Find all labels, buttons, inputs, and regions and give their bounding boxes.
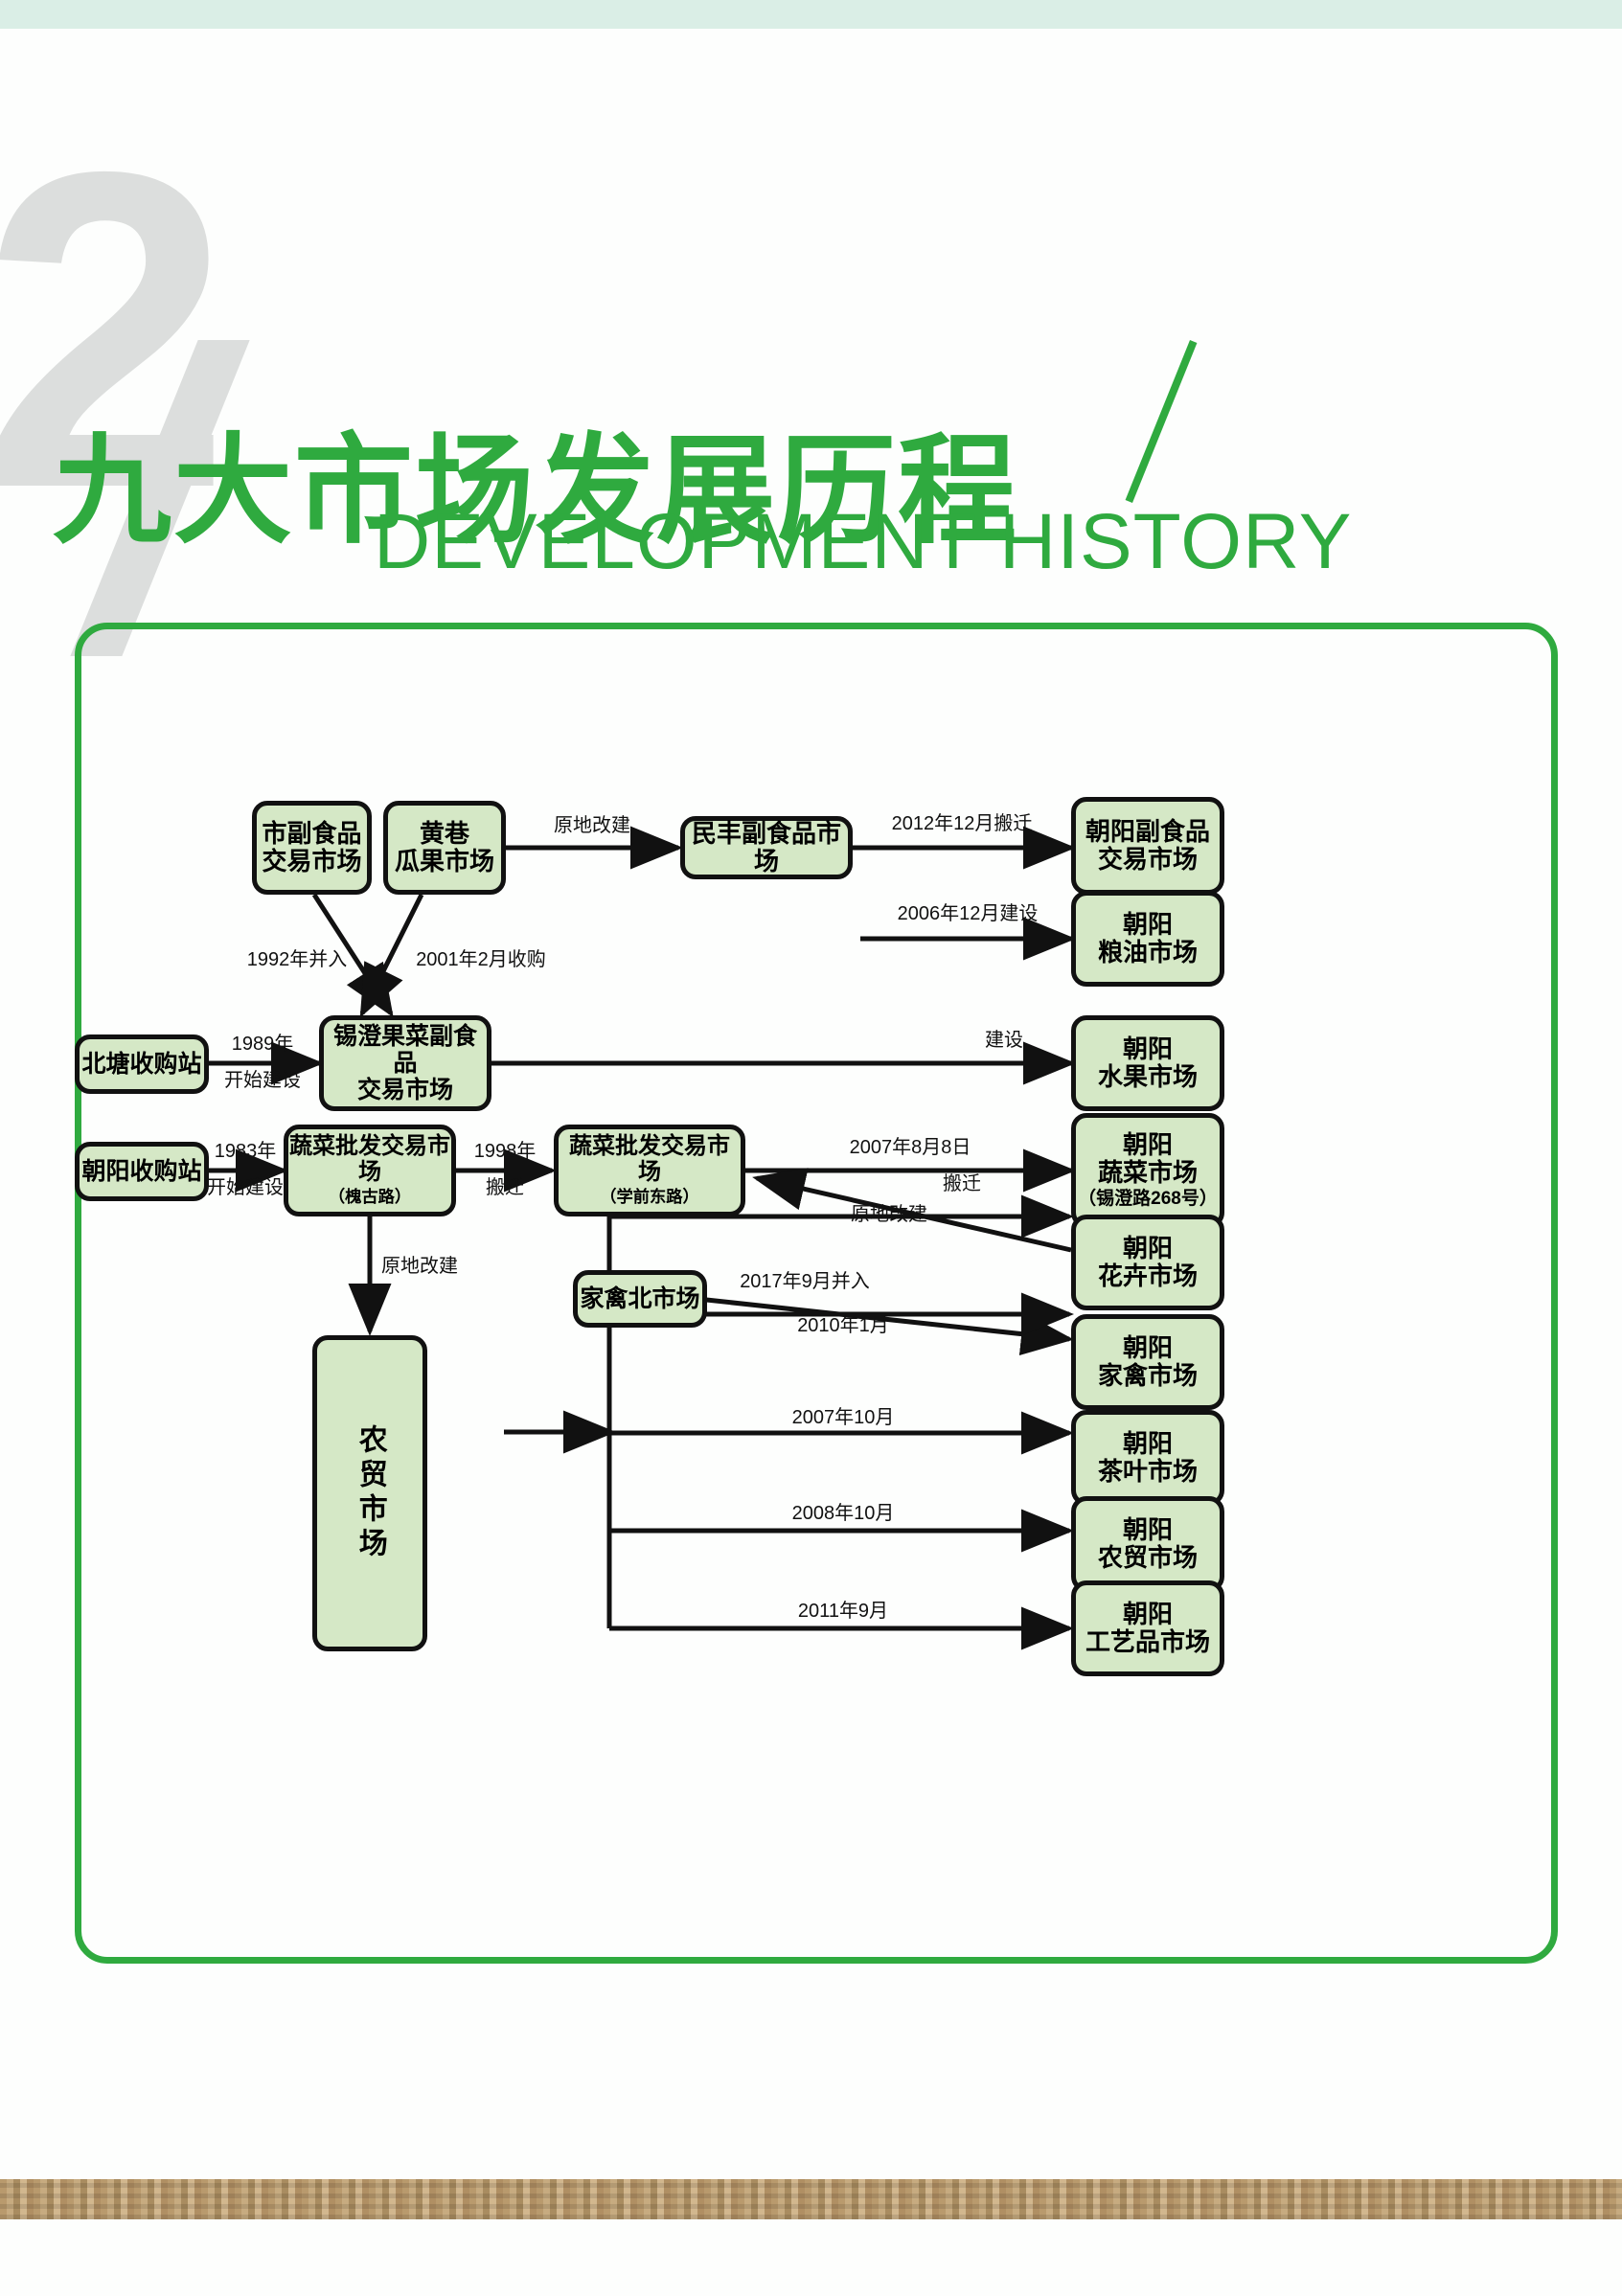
node-beitang-shougouzhan[interactable]: 北塘收购站 <box>75 1034 209 1094</box>
edge-label-yuandi-gaijian-3: 原地改建 <box>381 1255 458 1279</box>
node-label-line2: 茶叶市场 <box>1098 1458 1198 1486</box>
node-label-line1: 锡澄果菜副食品 <box>324 1023 487 1077</box>
node-label-sub: （学前东路） <box>600 1188 699 1206</box>
node-label-line1: 农贸市场 <box>354 1424 386 1562</box>
node-label-line1: 朝阳 <box>1123 1235 1173 1262</box>
edge-label-2008-10: 2008年10月 <box>792 1502 895 1526</box>
title-accent-slash-icon <box>1126 340 1198 503</box>
node-label-line2: 水果市场 <box>1098 1063 1198 1091</box>
node-label-line1: 蔬菜批发交易市场 <box>559 1134 741 1186</box>
node-chaoyang-shougouzhan[interactable]: 朝阳收购站 <box>75 1142 209 1201</box>
node-minfeng-fushipin[interactable]: 民丰副食品市场 <box>680 816 853 879</box>
node-label-line1: 朝阳 <box>1123 1516 1173 1544</box>
edge-label-2007-88: 2007年8月8日 <box>850 1136 971 1160</box>
node-label-line1: 朝阳收购站 <box>81 1158 201 1185</box>
node-label-line2: 交易市场 <box>262 848 361 875</box>
node-chaoyang-jiaqin[interactable]: 朝阳 家禽市场 <box>1071 1314 1224 1410</box>
node-chaoyang-shucai[interactable]: 朝阳 蔬菜市场 （锡澄路268号） <box>1071 1113 1224 1228</box>
node-chaoyang-fushipin[interactable]: 朝阳副食品 交易市场 <box>1071 797 1224 895</box>
node-shucai-pifa-huaigulu[interactable]: 蔬菜批发交易市场 （槐古路） <box>284 1125 456 1216</box>
bottom-texture-band <box>0 2179 1622 2219</box>
node-label-line1: 民丰副食品市场 <box>685 820 848 875</box>
edge-label-2017-bingru: 2017年9月并入 <box>740 1270 870 1294</box>
edge-label-1983: 1983年 <box>215 1140 277 1164</box>
node-jiaqin-bei[interactable]: 家禽北市场 <box>573 1270 707 1328</box>
node-label-line1: 朝阳副食品 <box>1085 818 1210 846</box>
node-chaoyang-nongmao[interactable]: 朝阳 农贸市场 <box>1071 1496 1224 1592</box>
edge-label-2010-1: 2010年1月 <box>797 1314 889 1338</box>
node-label-line2: 交易市场 <box>1098 846 1198 874</box>
node-nongmao-shichang[interactable]: 农贸市场 <box>312 1335 427 1651</box>
node-label-sub: （槐古路） <box>329 1188 411 1206</box>
node-label-line2: 蔬菜市场 <box>1098 1159 1198 1187</box>
edge-label-1989: 1989年 <box>232 1033 294 1057</box>
node-label-line2: 瓜果市场 <box>395 848 494 875</box>
edge-label-2001-shougou: 2001年2月收购 <box>416 948 546 972</box>
top-accent-band <box>0 0 1622 29</box>
node-chaoyang-shuiguo[interactable]: 朝阳 水果市场 <box>1071 1015 1224 1111</box>
edge-label-1992-bingru: 1992年并入 <box>247 948 348 972</box>
node-chaoyang-chaye[interactable]: 朝阳 茶叶市场 <box>1071 1410 1224 1506</box>
node-huangxiang-guaguo[interactable]: 黄巷 瓜果市场 <box>383 801 506 895</box>
edge-label-1998-banqian: 搬迁 <box>486 1176 524 1200</box>
edge-label-jianshe: 建设 <box>985 1029 1023 1053</box>
node-label-line1: 蔬菜批发交易市场 <box>288 1134 451 1186</box>
edge-label-yuandi-gaijian-2: 原地改建 <box>851 1203 927 1227</box>
development-history-flowchart: 市副食品 交易市场 黄巷 瓜果市场 民丰副食品市场 朝阳副食品 交易市场 朝阳 … <box>75 623 1558 1964</box>
node-shi-fushipin[interactable]: 市副食品 交易市场 <box>252 801 372 895</box>
edge-label-1983-kaishi-jianshe: 开始建设 <box>207 1176 284 1200</box>
node-label-line2: 花卉市场 <box>1098 1262 1198 1290</box>
node-label-line1: 北塘收购站 <box>81 1051 201 1078</box>
edge-label-2011-9: 2011年9月 <box>798 1600 888 1624</box>
node-label-line2: 工艺品市场 <box>1085 1628 1210 1656</box>
node-label-line1: 朝阳 <box>1123 1035 1173 1063</box>
node-chaoyang-liangyou[interactable]: 朝阳 粮油市场 <box>1071 891 1224 987</box>
node-label-line2: 粮油市场 <box>1098 939 1198 966</box>
node-label-line1: 朝阳 <box>1123 911 1173 939</box>
node-label-line2: 家禽市场 <box>1098 1362 1198 1390</box>
edge-label-1998: 1998年 <box>474 1140 537 1164</box>
node-chaoyang-gongyipin[interactable]: 朝阳 工艺品市场 <box>1071 1580 1224 1676</box>
node-label-line1: 家禽北市场 <box>580 1285 699 1312</box>
node-label-sub: （锡澄路268号） <box>1078 1189 1218 1209</box>
node-label-line1: 朝阳 <box>1123 1131 1173 1159</box>
node-label-line1: 市副食品 <box>262 820 361 848</box>
edge-label-yuandi-gaijian-1: 原地改建 <box>554 814 630 838</box>
edge-label-2012-banqian: 2012年12月搬迁 <box>892 812 1033 836</box>
node-label-line2: 农贸市场 <box>1098 1544 1198 1572</box>
node-chaoyang-huahui[interactable]: 朝阳 花卉市场 <box>1071 1215 1224 1310</box>
node-label-line1: 黄巷 <box>420 820 469 848</box>
node-label-line2: 交易市场 <box>357 1077 453 1103</box>
page-title-en: DEVELOPMENT HISTORY <box>374 503 1353 581</box>
edge-label-1989-kaishi-jianshe: 开始建设 <box>224 1069 301 1093</box>
node-label-line1: 朝阳 <box>1123 1601 1173 1628</box>
node-shucai-pifa-xueqiandonglu[interactable]: 蔬菜批发交易市场 （学前东路） <box>554 1125 745 1216</box>
edge-label-2007-88-banqian: 搬迁 <box>943 1172 981 1196</box>
node-label-line1: 朝阳 <box>1123 1334 1173 1362</box>
edge-label-2006-jianshe: 2006年12月建设 <box>898 902 1039 926</box>
node-xicheng-guocai-fushipin[interactable]: 锡澄果菜副食品 交易市场 <box>319 1015 491 1111</box>
edge-label-2007-10: 2007年10月 <box>792 1406 895 1430</box>
node-label-line1: 朝阳 <box>1123 1430 1173 1458</box>
